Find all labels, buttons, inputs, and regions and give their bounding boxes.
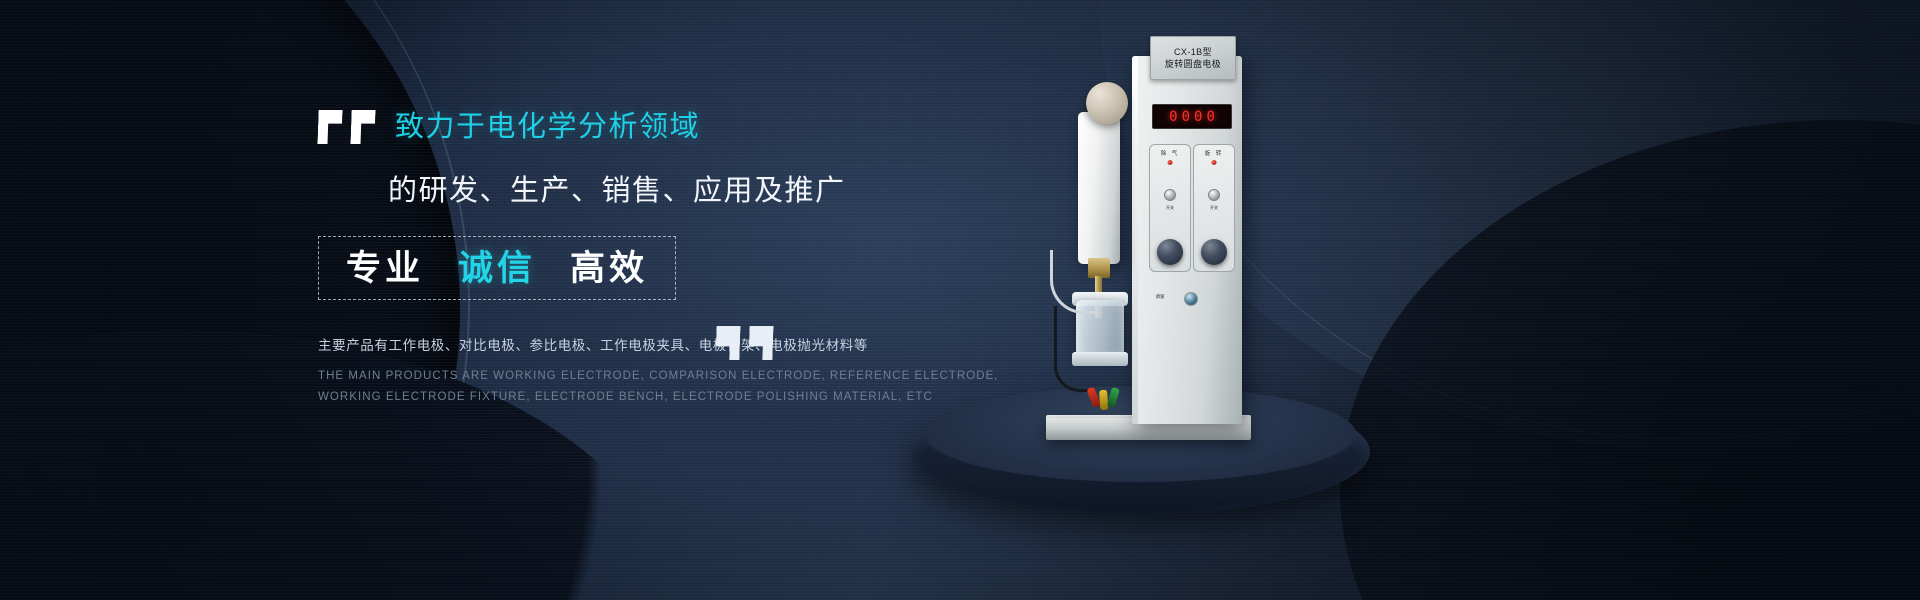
panel-sublabel-rotation: 开关 <box>1194 205 1234 210</box>
cabinet-left-rail <box>1132 56 1138 424</box>
led-digit-2: 0 <box>1182 110 1190 124</box>
indicator-led-rotation <box>1212 160 1217 165</box>
motor-cap <box>1086 82 1128 124</box>
product-nameplate: CX-1B型 旋转圆盘电极 <box>1150 36 1236 80</box>
description-english-line-2: WORKING ELECTRODE FIXTURE, ELECTRODE BEN… <box>318 391 878 403</box>
headline-row: 致力于电化学分析领域 <box>318 104 878 160</box>
led-display: 0 0 0 0 <box>1152 104 1232 129</box>
led-digit-3: 0 <box>1194 110 1202 124</box>
description-chinese: 主要产品有工作电极、对比电极、参比电极、工作电极夹具、电极台架、电极抛光材料等 <box>318 334 878 354</box>
rotary-knob-degas[interactable] <box>1157 239 1183 265</box>
decorative-swoosh-left-inner <box>0 0 280 600</box>
slogan-word-2: 诚信 <box>458 251 536 286</box>
control-panel: 除 气 开关 旋 转 开关 <box>1148 144 1236 272</box>
toggle-switch-rotation[interactable] <box>1208 189 1220 201</box>
hero-banner: 致力于电化学分析领域 的研发、生产、销售、应用及推广 专业 诚信 高效 主要产品… <box>0 0 1920 600</box>
toggle-switch-degas[interactable] <box>1164 189 1176 201</box>
panel-label-degas: 除 气 <box>1150 149 1190 157</box>
description-english-line-1: THE MAIN PRODUCTS ARE WORKING ELECTRODE,… <box>318 370 878 382</box>
rotary-knob-rotation[interactable] <box>1201 239 1227 265</box>
slogan-box: 专业 诚信 高效 <box>318 236 676 300</box>
hero-copy-block: 致力于电化学分析领域 的研发、生产、销售、应用及推广 专业 诚信 高效 主要产品… <box>318 104 878 403</box>
panel-sublabel-degas: 开关 <box>1150 205 1190 210</box>
motor-cylinder <box>1078 112 1120 264</box>
cable-black <box>1054 306 1088 392</box>
cable-grey <box>1050 250 1098 314</box>
slogan-word-3: 高效 <box>570 251 648 286</box>
headline-primary: 致力于电化学分析领域 <box>395 104 700 150</box>
indicator-led-degas <box>1168 160 1173 165</box>
alligator-clip-yellow <box>1099 390 1108 411</box>
quote-close-icon <box>716 326 776 364</box>
slogan-word-1: 专业 <box>346 251 424 286</box>
nameplate-name: 旋转圆盘电极 <box>1165 60 1221 69</box>
control-panel-degas: 除 气 开关 <box>1149 144 1191 272</box>
quote-open-icon <box>318 110 376 148</box>
lower-control-label: 调速 <box>1146 294 1174 299</box>
lower-control-knob[interactable] <box>1184 292 1198 306</box>
led-digit-1: 0 <box>1169 110 1177 124</box>
led-digit-4: 0 <box>1206 110 1214 124</box>
nameplate-model: CX-1B型 <box>1174 48 1212 57</box>
panel-label-rotation: 旋 转 <box>1194 149 1234 157</box>
product-image: CX-1B型 旋转圆盘电极 0 0 0 0 除 气 开关 旋 转 开关 <box>900 0 1920 600</box>
control-panel-rotation: 旋 转 开关 <box>1193 144 1235 272</box>
headline-secondary: 的研发、生产、销售、应用及推广 <box>388 168 878 214</box>
